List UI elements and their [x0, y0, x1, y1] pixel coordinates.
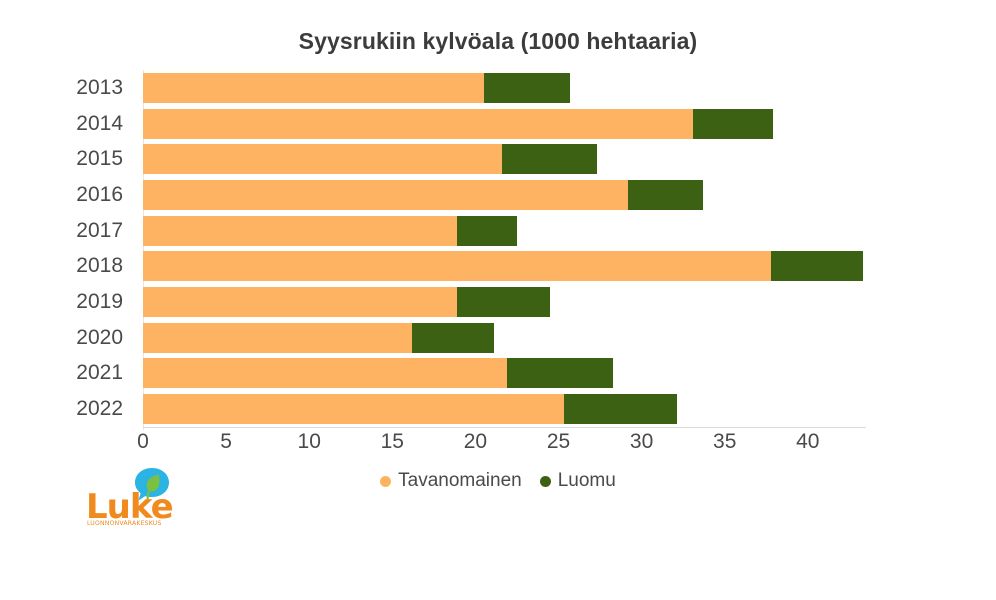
x-axis-tick-label: 40 [796, 430, 819, 454]
bar-segment-luomu[interactable] [628, 180, 703, 210]
y-axis-tick-label: 2014 [76, 106, 123, 142]
x-axis-tick-label: 10 [298, 430, 321, 454]
plot-area [143, 70, 866, 427]
bar-track [143, 287, 866, 317]
bar-segment-tavanomainen[interactable] [143, 144, 502, 174]
chart-title: Syysrukiin kylvöala (1000 hehtaaria) [0, 28, 996, 55]
bar-track [143, 394, 866, 424]
bar-row[interactable] [143, 320, 866, 356]
legend-dot-icon [380, 476, 391, 487]
y-axis-tick-labels: 2013201420152016201720182019202020212022 [0, 70, 133, 427]
bar-segment-luomu[interactable] [564, 394, 677, 424]
bar-row[interactable] [143, 70, 866, 106]
bar-track [143, 251, 866, 281]
legend-item[interactable]: Luomu [540, 470, 616, 492]
y-axis-tick-label: 2020 [76, 320, 123, 356]
bar-track [143, 73, 866, 103]
x-axis-tick-label: 5 [220, 430, 232, 454]
bar-segment-luomu[interactable] [412, 323, 493, 353]
bar-row[interactable] [143, 106, 866, 142]
y-axis-tick-label: 2018 [76, 249, 123, 285]
y-axis-tick-label: 2019 [76, 284, 123, 320]
x-axis-tick-label: 35 [713, 430, 736, 454]
x-axis-tick-label: 30 [630, 430, 653, 454]
y-axis-tick-label: 2017 [76, 213, 123, 249]
x-axis-line [143, 427, 866, 428]
bar-segment-tavanomainen[interactable] [143, 358, 507, 388]
y-axis-tick-label: 2013 [76, 70, 123, 106]
legend-label: Tavanomainen [398, 470, 522, 492]
y-axis-tick-label: 2015 [76, 141, 123, 177]
chart-container: Syysrukiin kylvöala (1000 hehtaaria) 201… [0, 0, 996, 600]
bar-row[interactable] [143, 391, 866, 427]
bar-track [143, 109, 866, 139]
bar-track [143, 358, 866, 388]
legend-dot-icon [540, 476, 551, 487]
bar-row[interactable] [143, 141, 866, 177]
legend-label: Luomu [558, 470, 616, 492]
bar-segment-luomu[interactable] [502, 144, 597, 174]
bar-row[interactable] [143, 177, 866, 213]
bar-segment-tavanomainen[interactable] [143, 216, 457, 246]
bar-segment-tavanomainen[interactable] [143, 73, 484, 103]
x-axis-tick-label: 0 [137, 430, 149, 454]
bar-segment-luomu[interactable] [484, 73, 570, 103]
x-axis-tick-label: 15 [381, 430, 404, 454]
bar-track [143, 144, 866, 174]
legend-item[interactable]: Tavanomainen [380, 470, 522, 492]
bar-segment-luomu[interactable] [507, 358, 613, 388]
bar-segment-luomu[interactable] [693, 109, 773, 139]
x-axis-tick-label: 25 [547, 430, 570, 454]
bar-segment-tavanomainen[interactable] [143, 323, 412, 353]
bar-segment-tavanomainen[interactable] [143, 394, 564, 424]
bar-segment-tavanomainen[interactable] [143, 109, 693, 139]
luke-wordmark: Luke [86, 490, 173, 524]
y-axis-tick-label: 2021 [76, 356, 123, 392]
x-axis-tick-label: 20 [464, 430, 487, 454]
bar-track [143, 216, 866, 246]
bar-segment-luomu[interactable] [457, 287, 550, 317]
bar-track [143, 180, 866, 210]
x-axis-tick-labels: 0510152025303540 [0, 430, 996, 460]
bar-track [143, 323, 866, 353]
bar-segment-tavanomainen[interactable] [143, 287, 457, 317]
bar-segment-tavanomainen[interactable] [143, 180, 628, 210]
luke-logo: Luke LUONNONVARAKESKUS [86, 468, 181, 530]
bar-row[interactable] [143, 249, 866, 285]
bar-segment-tavanomainen[interactable] [143, 251, 771, 281]
bar-segment-luomu[interactable] [771, 251, 862, 281]
y-axis-tick-label: 2022 [76, 391, 123, 427]
bar-row[interactable] [143, 356, 866, 392]
bar-row[interactable] [143, 284, 866, 320]
bar-segment-luomu[interactable] [457, 216, 517, 246]
y-axis-tick-label: 2016 [76, 177, 123, 213]
bar-row[interactable] [143, 213, 866, 249]
luke-tagline: LUONNONVARAKESKUS [87, 520, 162, 527]
